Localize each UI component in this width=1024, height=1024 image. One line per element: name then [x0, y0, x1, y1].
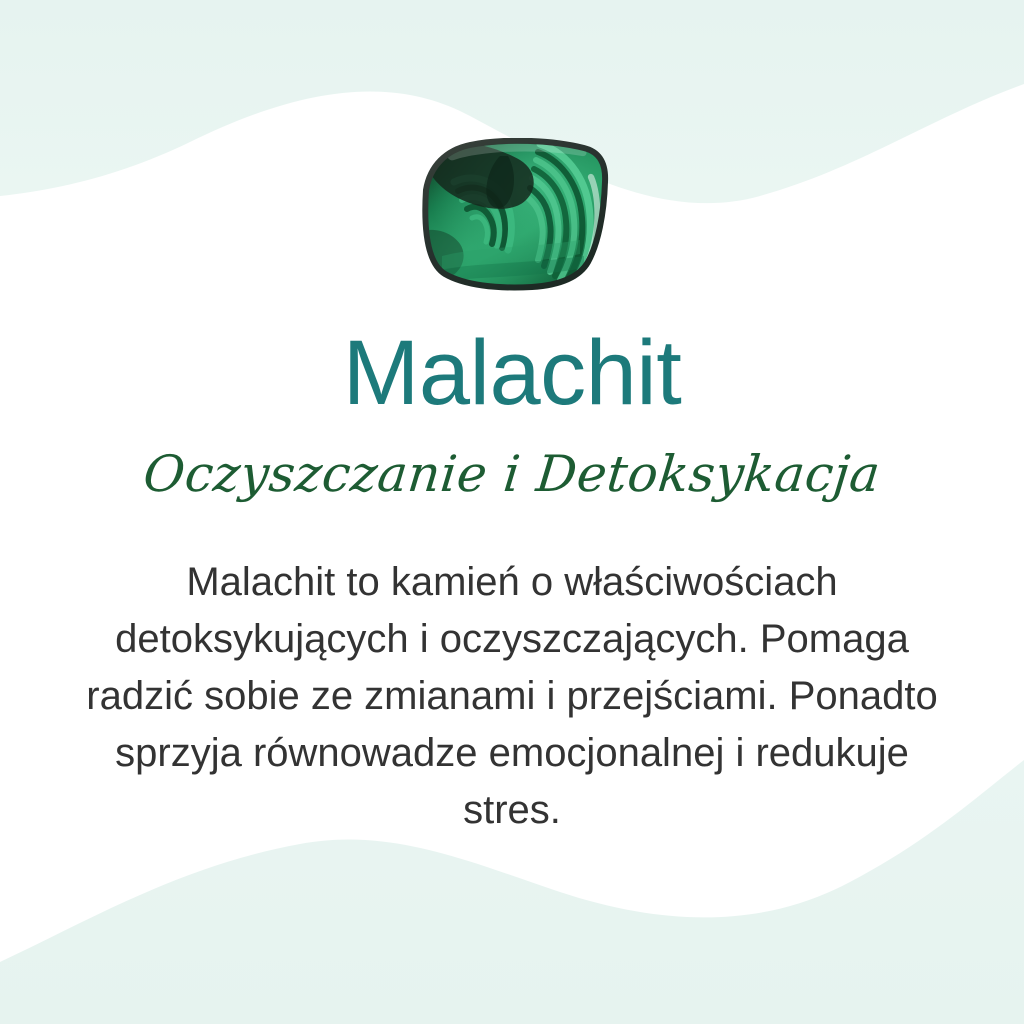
crystal-info-card: Malachit Oczyszczanie i Detoksykacja Mal…: [0, 0, 1024, 1024]
description-line: radzić sobie ze zmianami i przejściami. …: [35, 668, 989, 725]
malachite-stone-image: [412, 138, 612, 293]
page-title: Malachit: [0, 327, 1024, 419]
description-paragraph: Malachit to kamień o właściwościach deto…: [35, 554, 989, 839]
description-line: sprzyja równowadze emocjonalnej i reduku…: [35, 725, 989, 782]
description-line: Malachit to kamień o właściwościach: [35, 554, 989, 611]
description-line: stres.: [35, 782, 989, 839]
subtitle-script: Oczyszczanie i Detoksykacja: [0, 449, 1024, 499]
description-line: detoksykujących i oczyszczających. Pomag…: [35, 611, 989, 668]
malachite-stone-icon: [412, 138, 612, 293]
